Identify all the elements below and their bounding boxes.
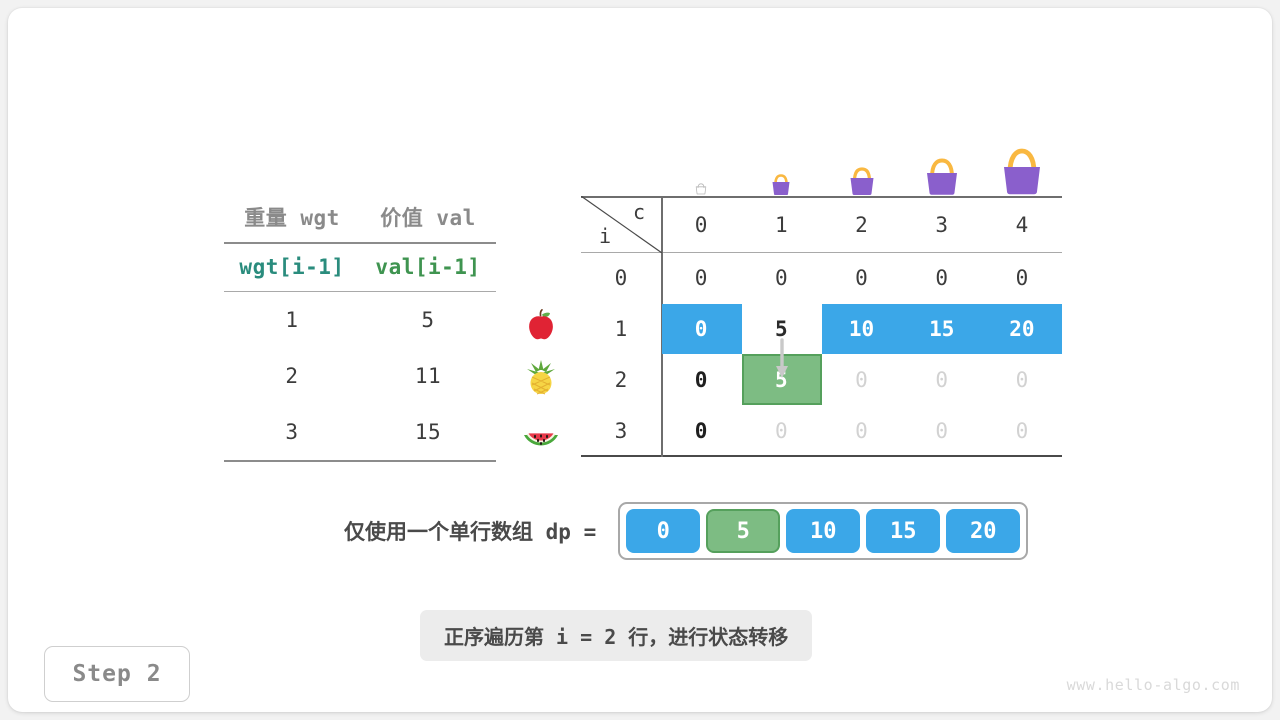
dp-cell-0-3: 0 bbox=[902, 266, 982, 290]
dp-array-cell-4: 20 bbox=[946, 509, 1020, 553]
item-table-row: 1 5 bbox=[224, 292, 496, 348]
dp-cell-0-1: 0 bbox=[741, 266, 821, 290]
step-caption: 正序遍历第 i = 2 行，进行状态转移 bbox=[420, 610, 812, 661]
dp-cell-0-0: 0 bbox=[661, 266, 741, 290]
bag-icon-cap-3 bbox=[902, 134, 982, 196]
item-table-subheader-val: val[i-1] bbox=[360, 244, 496, 291]
item-wgt-value: 3 bbox=[224, 404, 360, 460]
dp-cell-3-3: 0 bbox=[902, 419, 982, 443]
dp-cell-0-2: 0 bbox=[821, 266, 901, 290]
dp-array-cell-2: 10 bbox=[786, 509, 860, 553]
dp-cell-3-4: 0 bbox=[982, 419, 1062, 443]
dp-col-header-1: 1 bbox=[741, 213, 821, 237]
item-table-subheader-wgt: wgt[i-1] bbox=[224, 244, 360, 291]
item-table-header-row: 重量 wgt 价值 val bbox=[224, 196, 496, 242]
item-table-rule-bottom bbox=[224, 460, 496, 462]
dp-cell-1-3: 15 bbox=[902, 317, 982, 341]
bag-icon-cap-4 bbox=[982, 134, 1062, 196]
item-table-header-wgt: 重量 wgt bbox=[224, 196, 360, 242]
apple-icon bbox=[513, 301, 569, 351]
dp-cell-0-4: 0 bbox=[982, 266, 1062, 290]
dp-array-cell-1: 5 bbox=[706, 509, 780, 553]
item-table-row: 3 15 bbox=[224, 404, 496, 460]
dp-cell-3-1: 0 bbox=[741, 419, 821, 443]
state-transition-arrow bbox=[774, 338, 790, 382]
item-table-subheader-row: wgt[i-1] val[i-1] bbox=[224, 244, 496, 291]
dp-row-label-1: 1 bbox=[581, 317, 661, 341]
dp-table-row: 2 0 5 0 0 0 bbox=[581, 355, 1062, 406]
dp-table-row: 1 0 5 10 15 20 bbox=[581, 304, 1062, 355]
bag-capacity-icon-row bbox=[661, 134, 1062, 196]
dp-table-grid: 0 1 2 3 4 0 0 0 0 0 0 1 0 5 10 15 bbox=[581, 196, 1062, 457]
dp-cell-2-0: 0 bbox=[661, 368, 741, 392]
dp-table-header-row: 0 1 2 3 4 bbox=[581, 196, 1062, 253]
dp-row-label-3: 3 bbox=[581, 419, 661, 443]
dp-cell-1-2: 10 bbox=[821, 317, 901, 341]
item-val-value: 15 bbox=[360, 404, 496, 460]
dp-array-cell-3: 15 bbox=[866, 509, 940, 553]
dp-col-header-3: 3 bbox=[902, 213, 982, 237]
dp-array-cell-0: 0 bbox=[626, 509, 700, 553]
fruit-icon-column bbox=[513, 301, 569, 454]
dp-array-label: 仅使用一个单行数组 dp = bbox=[344, 516, 596, 546]
pineapple-icon bbox=[513, 352, 569, 402]
bag-icon-cap-0 bbox=[661, 134, 741, 196]
dp-row-label-2: 2 bbox=[581, 368, 661, 392]
step-badge: Step 2 bbox=[44, 646, 190, 702]
dp-col-header-4: 4 bbox=[982, 213, 1062, 237]
slide-card: 重量 wgt 价值 val wgt[i-1] val[i-1] 1 5 2 11… bbox=[8, 8, 1272, 712]
item-wgt-value: 2 bbox=[224, 348, 360, 404]
dp-table-row: 0 0 0 0 0 0 bbox=[581, 253, 1062, 304]
dp-cell-2-4: 0 bbox=[982, 368, 1062, 392]
dp-array-section: 仅使用一个单行数组 dp = 0 5 10 15 20 bbox=[344, 502, 1028, 560]
dp-cell-2-2: 0 bbox=[821, 368, 901, 392]
dp-cell-1-4: 20 bbox=[982, 317, 1062, 341]
dp-cell-3-0: 0 bbox=[661, 419, 741, 443]
item-table: 重量 wgt 价值 val wgt[i-1] val[i-1] 1 5 2 11… bbox=[224, 196, 496, 462]
item-val-value: 5 bbox=[360, 292, 496, 348]
bag-icon-cap-2 bbox=[821, 134, 901, 196]
watermark: www.hello-algo.com bbox=[1067, 676, 1240, 694]
item-table-header-val: 价值 val bbox=[360, 196, 496, 242]
item-val-value: 11 bbox=[360, 348, 496, 404]
dp-row-label-0: 0 bbox=[581, 266, 661, 290]
item-wgt-value: 1 bbox=[224, 292, 360, 348]
dp-col-header-0: 0 bbox=[661, 213, 741, 237]
dp-cell-1-0: 0 bbox=[661, 317, 741, 341]
dp-table: c i 0 1 2 3 4 0 0 0 0 0 0 bbox=[581, 196, 1062, 457]
bag-icon-cap-1 bbox=[741, 134, 821, 196]
dp-table-row: 3 0 0 0 0 0 bbox=[581, 405, 1062, 456]
dp-cell-2-3: 0 bbox=[902, 368, 982, 392]
watermelon-icon bbox=[513, 403, 569, 453]
dp-col-header-2: 2 bbox=[821, 213, 901, 237]
dp-cell-3-2: 0 bbox=[821, 419, 901, 443]
dp-array-box: 0 5 10 15 20 bbox=[618, 502, 1028, 560]
item-table-row: 2 11 bbox=[224, 348, 496, 404]
